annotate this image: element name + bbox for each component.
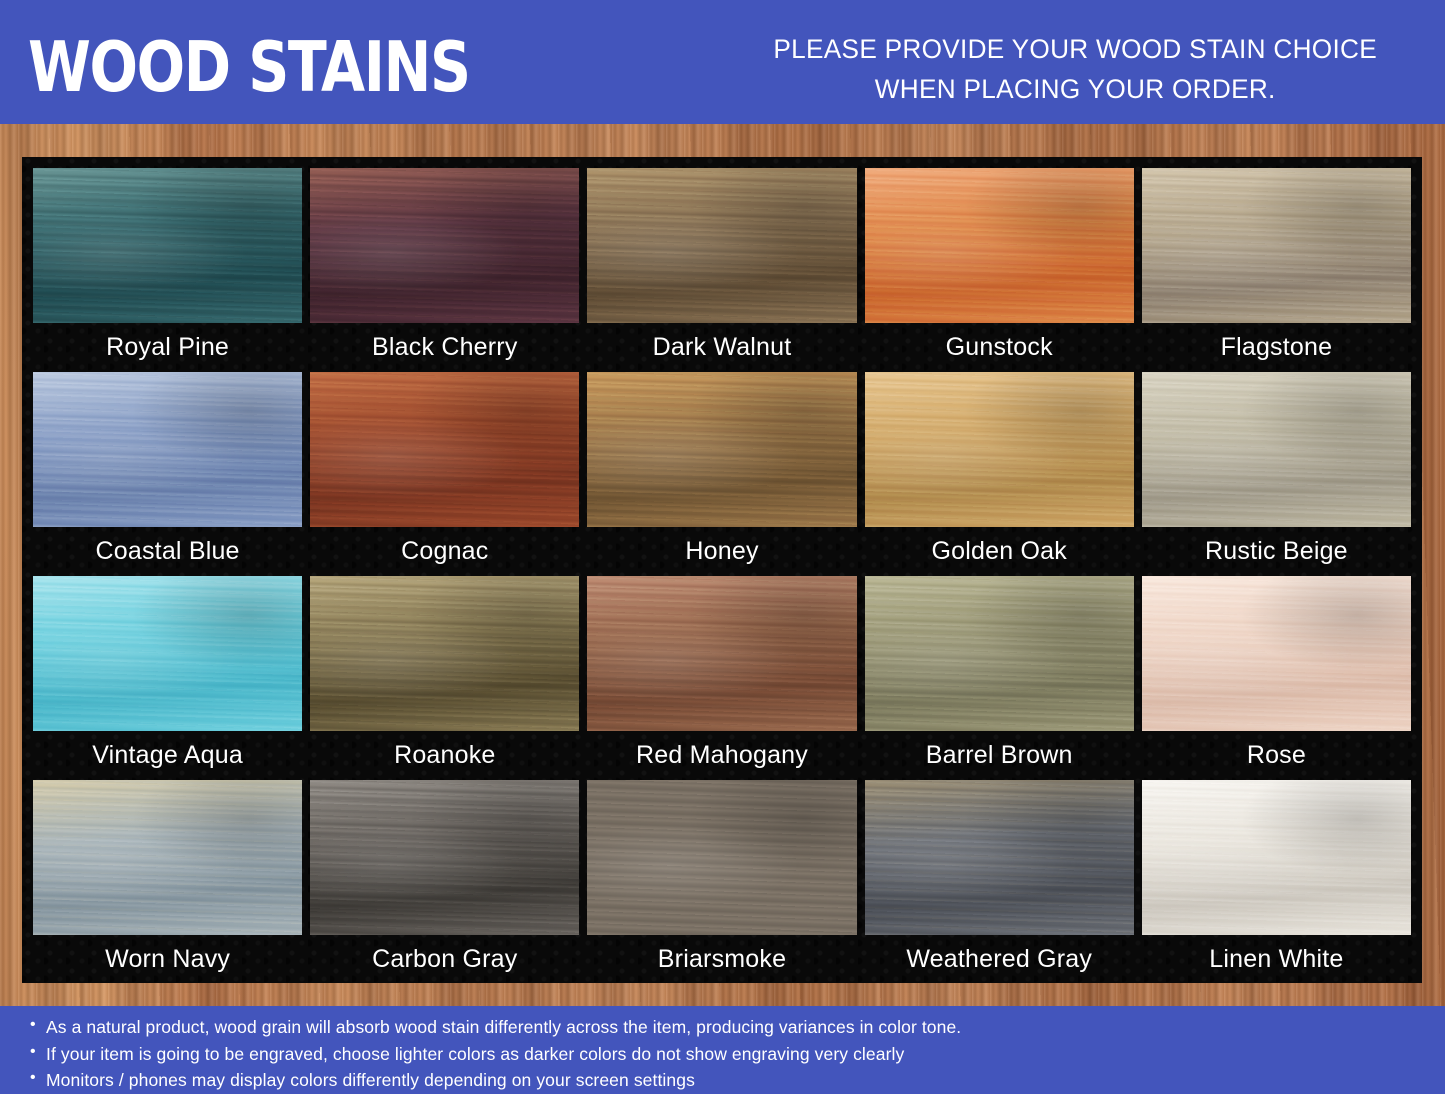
order-instruction-line-1: PLEASE PROVIDE YOUR WOOD STAIN CHOICE (745, 30, 1405, 70)
stain-label: Briarsmoke (587, 935, 856, 983)
stain-label: Red Mahogany (587, 731, 856, 779)
stain-swatch[interactable] (865, 372, 1134, 527)
stain-label: Royal Pine (33, 323, 302, 371)
stain-cell[interactable]: Roanoke (310, 576, 579, 779)
stain-swatch[interactable] (1142, 576, 1411, 731)
stain-cell[interactable]: Briarsmoke (587, 780, 856, 983)
stain-swatch[interactable] (33, 168, 302, 323)
stain-label: Vintage Aqua (33, 731, 302, 779)
order-instruction-note: PLEASE PROVIDE YOUR WOOD STAIN CHOICE WH… (745, 30, 1405, 109)
stain-swatch[interactable] (1142, 168, 1411, 323)
stain-cell[interactable]: Black Cherry (310, 168, 579, 371)
page-title: WOOD STAINS (28, 26, 470, 108)
stain-swatch[interactable] (310, 168, 579, 323)
stain-label: Carbon Gray (310, 935, 579, 983)
stain-label: Barrel Brown (865, 731, 1134, 779)
stain-label: Dark Walnut (587, 323, 856, 371)
disclaimer-list: As a natural product, wood grain will ab… (26, 1014, 1445, 1094)
stain-cell[interactable]: Gunstock (865, 168, 1134, 371)
stain-label: Gunstock (865, 323, 1134, 371)
stain-swatch[interactable] (1142, 780, 1411, 935)
stain-swatch[interactable] (587, 576, 856, 731)
stain-cell[interactable]: Worn Navy (33, 780, 302, 983)
stain-row-3: Vintage AquaRoanokeRed MahoganyBarrel Br… (33, 576, 1411, 779)
stain-label: Flagstone (1142, 323, 1411, 371)
stain-label: Weathered Gray (865, 935, 1134, 983)
stain-swatch[interactable] (587, 372, 856, 527)
stain-label: Black Cherry (310, 323, 579, 371)
stain-label: Linen White (1142, 935, 1411, 983)
disclaimer-item: As a natural product, wood grain will ab… (26, 1014, 1445, 1041)
stain-label: Roanoke (310, 731, 579, 779)
stain-label: Coastal Blue (33, 527, 302, 575)
stain-swatch[interactable] (587, 168, 856, 323)
disclaimer-item: If your item is going to be engraved, ch… (26, 1041, 1445, 1068)
stain-label: Golden Oak (865, 527, 1134, 575)
stain-swatch[interactable] (33, 576, 302, 731)
stain-row-4: Worn NavyCarbon GrayBriarsmokeWeathered … (33, 780, 1411, 983)
footer-disclaimers: As a natural product, wood grain will ab… (0, 1006, 1445, 1084)
stain-swatch[interactable] (1142, 372, 1411, 527)
stain-label: Worn Navy (33, 935, 302, 983)
stain-cell[interactable]: Dark Walnut (587, 168, 856, 371)
stain-cell[interactable]: Royal Pine (33, 168, 302, 371)
stain-swatch[interactable] (310, 576, 579, 731)
order-instruction-line-2: WHEN PLACING YOUR ORDER. (745, 70, 1405, 110)
stain-label: Cognac (310, 527, 579, 575)
stain-cell[interactable]: Golden Oak (865, 372, 1134, 575)
stain-cell[interactable]: Honey (587, 372, 856, 575)
stain-label: Honey (587, 527, 856, 575)
stain-row-2: Coastal BlueCognacHoneyGolden OakRustic … (33, 372, 1411, 575)
stain-cell[interactable]: Cognac (310, 372, 579, 575)
stain-cell[interactable]: Red Mahogany (587, 576, 856, 779)
stain-swatch[interactable] (310, 372, 579, 527)
header-banner: WOOD STAINS PLEASE PROVIDE YOUR WOOD STA… (0, 0, 1445, 124)
stain-cell[interactable]: Rose (1142, 576, 1411, 779)
disclaimer-item: Monitors / phones may display colors dif… (26, 1067, 1445, 1094)
stain-cell[interactable]: Barrel Brown (865, 576, 1134, 779)
stain-cell[interactable]: Rustic Beige (1142, 372, 1411, 575)
stain-cell[interactable]: Flagstone (1142, 168, 1411, 371)
stain-swatch[interactable] (33, 780, 302, 935)
stain-cell[interactable]: Carbon Gray (310, 780, 579, 983)
stain-label: Rustic Beige (1142, 527, 1411, 575)
stain-swatch[interactable] (310, 780, 579, 935)
stain-label: Rose (1142, 731, 1411, 779)
stain-swatch[interactable] (865, 168, 1134, 323)
stain-cell[interactable]: Weathered Gray (865, 780, 1134, 983)
stain-swatch[interactable] (865, 780, 1134, 935)
stain-swatch[interactable] (865, 576, 1134, 731)
stain-swatch[interactable] (33, 372, 302, 527)
stain-swatch-panel: Royal PineBlack CherryDark WalnutGunstoc… (22, 157, 1422, 983)
stain-swatch[interactable] (587, 780, 856, 935)
stain-cell[interactable]: Coastal Blue (33, 372, 302, 575)
stain-cell[interactable]: Vintage Aqua (33, 576, 302, 779)
stain-cell[interactable]: Linen White (1142, 780, 1411, 983)
stain-row-1: Royal PineBlack CherryDark WalnutGunstoc… (33, 168, 1411, 371)
